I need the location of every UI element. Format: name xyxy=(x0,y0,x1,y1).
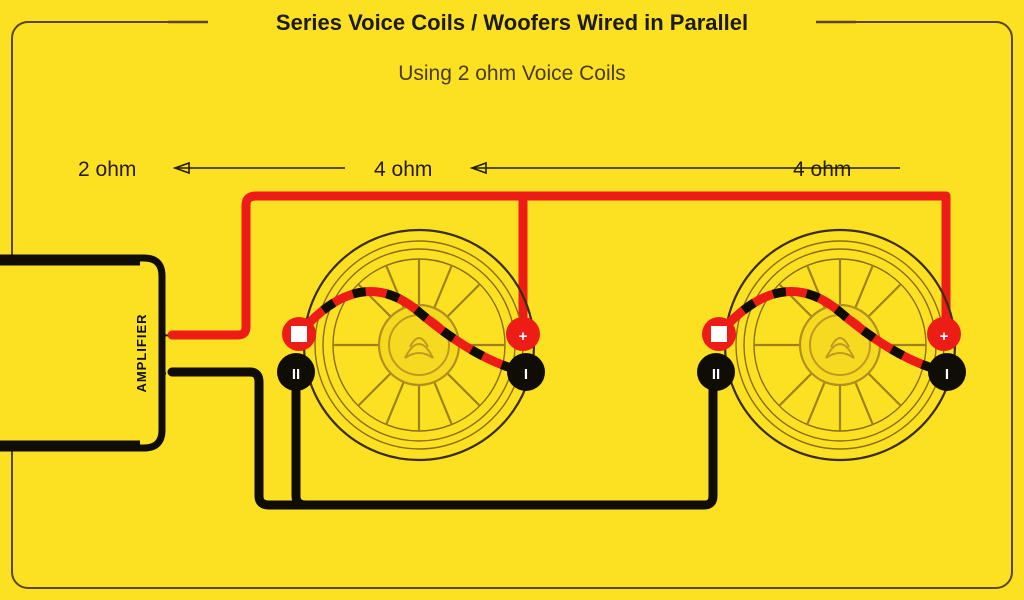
woofer-left-terminal-right-negative[interactable]: I xyxy=(507,353,545,391)
amplifier-label: AMPLIFIER xyxy=(134,313,149,392)
woofer-left-lp-label: + xyxy=(295,327,304,344)
woofer-right-terminal-left-negative[interactable]: II xyxy=(697,353,735,391)
amplifier[interactable]: AMPLIFIER + - xyxy=(0,258,169,448)
woofer-right-lp-label: + xyxy=(715,327,724,344)
impedance-label-left: 4 ohm xyxy=(374,158,432,181)
woofer-right-rp-label: + xyxy=(940,328,949,345)
page-title: Series Voice Coils / Woofers Wired in Pa… xyxy=(276,10,748,35)
impedance-label-total: 2 ohm xyxy=(78,158,136,181)
woofer-left-rp-label: + xyxy=(519,328,528,345)
page-subtitle: Using 2 ohm Voice Coils xyxy=(398,62,626,85)
woofer-left-terminal-right-positive[interactable]: + xyxy=(506,317,540,351)
impedance-label-right: 4 ohm xyxy=(793,158,851,181)
woofer-right-ln-label: II xyxy=(712,366,720,383)
woofer-left-ln-label: II xyxy=(292,366,300,383)
woofer-right-terminal-left-positive[interactable]: + xyxy=(702,317,736,351)
wiring-diagram: Series Voice Coils / Woofers Wired in Pa… xyxy=(0,0,1024,600)
woofer-left-terminal-left-negative[interactable]: II xyxy=(277,353,315,391)
amplifier-negative-sign: - xyxy=(161,363,167,382)
woofer-left-terminal-left-positive[interactable]: + xyxy=(282,317,316,351)
woofer-right-terminal-right-negative[interactable]: I xyxy=(928,353,966,391)
diagram-canvas: Series Voice Coils / Woofers Wired in Pa… xyxy=(0,0,1024,600)
woofer-left-rn-label: I xyxy=(524,366,528,383)
woofer-right-rn-label: I xyxy=(945,366,949,383)
woofer-right-terminal-right-positive[interactable]: + xyxy=(927,317,961,351)
